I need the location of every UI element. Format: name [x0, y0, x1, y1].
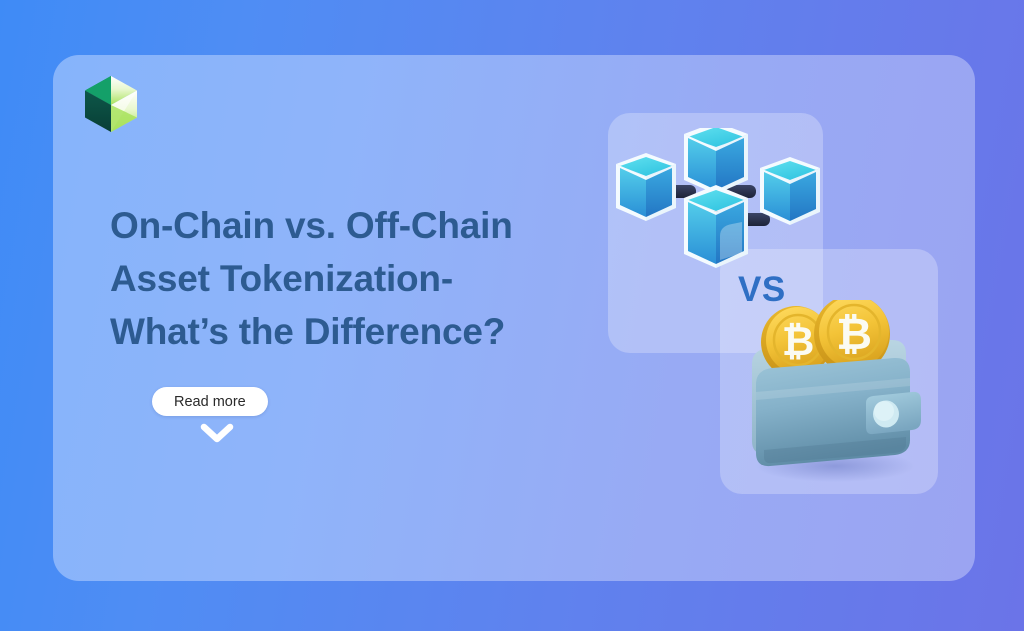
- wallet-glyph: ₿ ₿: [740, 300, 925, 482]
- svg-text:₿: ₿: [782, 320, 815, 364]
- cube-right: [760, 157, 820, 225]
- chevron-down-glyph: [199, 421, 235, 445]
- wallet-with-bitcoin-icon: ₿ ₿: [740, 300, 925, 482]
- page-title-line-1: On-Chain vs. Off-Chain: [110, 199, 630, 252]
- blockchain-cubes-glyph: [612, 128, 827, 273]
- blockchain-cubes-icon: [612, 128, 827, 273]
- page-title-line-2: Asset Tokenization-: [110, 252, 630, 305]
- page-title: On-Chain vs. Off-Chain Asset Tokenizatio…: [110, 199, 630, 358]
- cube-left: [616, 153, 676, 221]
- read-more-button[interactable]: Read more: [152, 387, 268, 416]
- banner-root: On-Chain vs. Off-Chain Asset Tokenizatio…: [0, 0, 1024, 631]
- chevron-down-icon[interactable]: [199, 421, 235, 445]
- read-more-label: Read more: [174, 394, 246, 410]
- page-title-line-3: What’s the Difference?: [110, 305, 630, 358]
- hexagon-cube-logo[interactable]: [82, 74, 140, 134]
- svg-text:₿: ₿: [836, 310, 872, 359]
- cube-bottom: [684, 185, 748, 268]
- cube-top: [684, 128, 748, 194]
- logo-icon: [82, 74, 140, 134]
